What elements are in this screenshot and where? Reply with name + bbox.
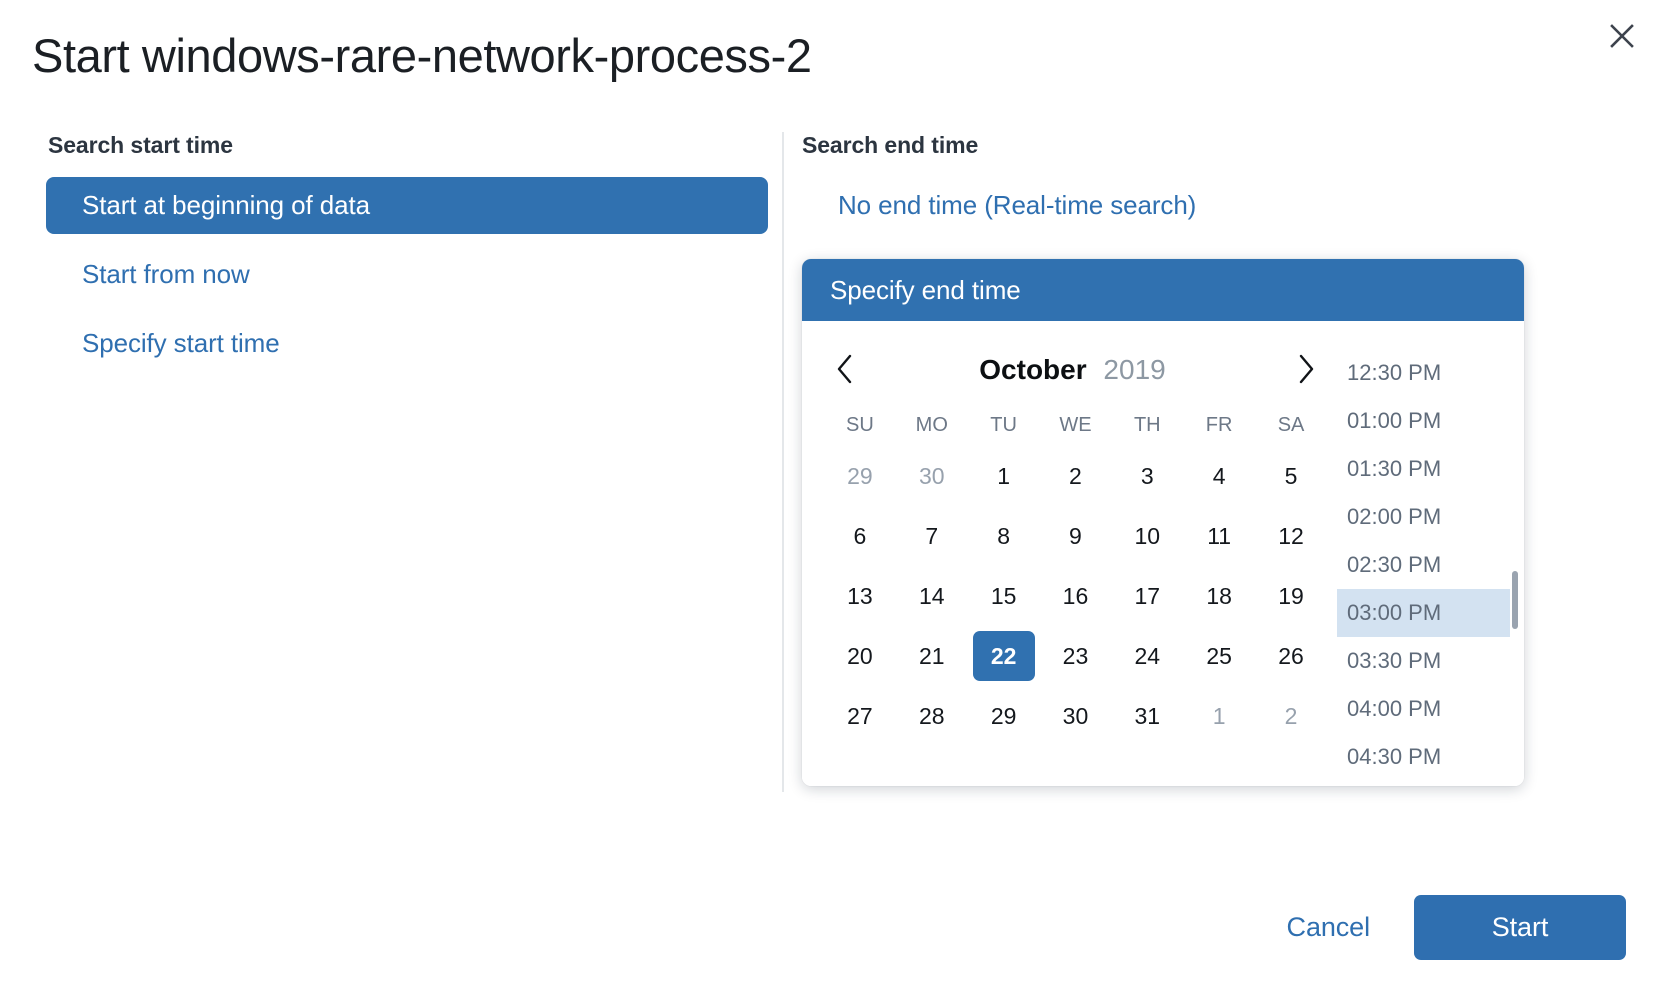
calendar-cell: 9 xyxy=(1040,506,1112,566)
calendar-weekday: SU xyxy=(824,401,896,446)
calendar-day[interactable]: 7 xyxy=(901,511,963,561)
calendar-day[interactable]: 18 xyxy=(1188,571,1250,621)
calendar-cell: 8 xyxy=(968,506,1040,566)
calendar-grid: SU MO TU WE TH FR SA 2930123456789101112… xyxy=(824,401,1327,746)
calendar-cell: 1 xyxy=(968,446,1040,506)
calendar-weekday: TU xyxy=(968,401,1040,446)
calendar-day[interactable]: 2 xyxy=(1260,691,1322,741)
calendar-cell: 16 xyxy=(1040,566,1112,626)
time-option-selected[interactable]: 03:00 PM xyxy=(1337,589,1510,637)
start-option-from-now[interactable]: Start from now xyxy=(46,246,768,303)
chevron-left-icon xyxy=(834,353,856,388)
calendar-cell: 19 xyxy=(1255,566,1327,626)
calendar-weeks: 2930123456789101112131415161718192021222… xyxy=(824,446,1327,746)
calendar-cell: 7 xyxy=(896,506,968,566)
calendar-cell: 21 xyxy=(896,626,968,686)
start-option-specify-start-time[interactable]: Specify start time xyxy=(46,315,768,372)
calendar-day[interactable]: 30 xyxy=(1044,691,1106,741)
calendar-week-row: 6789101112 xyxy=(824,506,1327,566)
time-option[interactable]: 03:30 PM xyxy=(1337,637,1510,685)
end-time-column: Search end time No end time (Real-time s… xyxy=(782,132,1666,792)
calendar-day[interactable]: 10 xyxy=(1116,511,1178,561)
dialog-footer: Cancel Start xyxy=(0,895,1666,960)
calendar-day[interactable]: 24 xyxy=(1116,631,1178,681)
calendar-day[interactable]: 1 xyxy=(1188,691,1250,741)
calendar-cell: 2 xyxy=(1040,446,1112,506)
time-option[interactable]: 04:00 PM xyxy=(1337,685,1510,733)
calendar-day[interactable]: 12 xyxy=(1260,511,1322,561)
calendar-cell: 5 xyxy=(1255,446,1327,506)
time-list[interactable]: 12:30 PM01:00 PM01:30 PM02:00 PM02:30 PM… xyxy=(1337,321,1524,786)
calendar-cell: 1 xyxy=(1183,686,1255,746)
end-time-heading: Search end time xyxy=(802,132,1666,159)
calendar-day[interactable]: 29 xyxy=(829,451,891,501)
calendar-cell: 15 xyxy=(968,566,1040,626)
calendar-day[interactable]: 4 xyxy=(1188,451,1250,501)
calendar-cell: 29 xyxy=(968,686,1040,746)
end-time-picker-popover: Specify end time xyxy=(802,259,1524,786)
calendar-day[interactable]: 31 xyxy=(1116,691,1178,741)
start-option-beginning-of-data[interactable]: Start at beginning of data xyxy=(46,177,768,234)
calendar-header: October 2019 xyxy=(824,339,1327,401)
calendar-cell: 13 xyxy=(824,566,896,626)
calendar-day[interactable]: 19 xyxy=(1260,571,1322,621)
time-list-scrollbar[interactable] xyxy=(1512,571,1518,629)
calendar-cell: 14 xyxy=(896,566,968,626)
close-icon xyxy=(1608,22,1636,50)
start-option-beginning-of-data-label: Start at beginning of data xyxy=(82,190,370,220)
time-option[interactable]: 02:00 PM xyxy=(1337,493,1510,541)
calendar-cell: 29 xyxy=(824,446,896,506)
calendar-day[interactable]: 17 xyxy=(1116,571,1178,621)
calendar-cell: 27 xyxy=(824,686,896,746)
start-time-column: Search start time Start at beginning of … xyxy=(0,132,782,792)
calendar-day[interactable]: 6 xyxy=(829,511,891,561)
calendar-day[interactable]: 28 xyxy=(901,691,963,741)
calendar-day[interactable]: 30 xyxy=(901,451,963,501)
calendar-day[interactable]: 11 xyxy=(1188,511,1250,561)
end-option-no-end-time-label: No end time (Real-time search) xyxy=(838,190,1196,220)
calendar-cell: 12 xyxy=(1255,506,1327,566)
picker-body: October 2019 xyxy=(802,321,1524,786)
calendar-day[interactable]: 9 xyxy=(1044,511,1106,561)
time-option[interactable]: 12:30 PM xyxy=(1337,349,1510,397)
calendar-week-row: 293012345 xyxy=(824,446,1327,506)
end-option-specify-end-time-label: Specify end time xyxy=(830,275,1021,305)
calendar-day[interactable]: 21 xyxy=(901,631,963,681)
calendar-cell: 6 xyxy=(824,506,896,566)
calendar-cell: 18 xyxy=(1183,566,1255,626)
time-range-selector: Search start time Start at beginning of … xyxy=(0,132,1666,792)
calendar-day[interactable]: 8 xyxy=(973,511,1035,561)
calendar-day[interactable]: 16 xyxy=(1044,571,1106,621)
calendar-weekday: TH xyxy=(1111,401,1183,446)
calendar-week-row: 20212223242526 xyxy=(824,626,1327,686)
end-option-specify-end-time[interactable]: Specify end time xyxy=(802,259,1524,321)
time-option[interactable]: 01:00 PM xyxy=(1337,397,1510,445)
start-option-specify-start-time-label: Specify start time xyxy=(82,328,280,358)
calendar-week-row: 272829303112 xyxy=(824,686,1327,746)
time-option[interactable]: 02:30 PM xyxy=(1337,541,1510,589)
calendar-day[interactable]: 13 xyxy=(829,571,891,621)
calendar-day[interactable]: 29 xyxy=(973,691,1035,741)
end-option-no-end-time[interactable]: No end time (Real-time search) xyxy=(802,177,1524,234)
calendar-day[interactable]: 2 xyxy=(1044,451,1106,501)
calendar-cell: 3 xyxy=(1111,446,1183,506)
calendar-weekday: MO xyxy=(896,401,968,446)
calendar-day[interactable]: 20 xyxy=(829,631,891,681)
calendar-next-month-button[interactable] xyxy=(1285,349,1327,391)
calendar: October 2019 xyxy=(802,321,1337,786)
time-option[interactable]: 04:30 PM xyxy=(1337,733,1510,781)
close-button[interactable] xyxy=(1600,14,1644,58)
calendar-day[interactable]: 14 xyxy=(901,571,963,621)
calendar-year-label: 2019 xyxy=(1103,354,1165,385)
calendar-day[interactable]: 25 xyxy=(1188,631,1250,681)
calendar-day[interactable]: 5 xyxy=(1260,451,1322,501)
calendar-month-label: October xyxy=(979,354,1086,385)
calendar-cell: 10 xyxy=(1111,506,1183,566)
time-items: 12:30 PM01:00 PM01:30 PM02:00 PM02:30 PM… xyxy=(1337,349,1524,786)
calendar-cell: 28 xyxy=(896,686,968,746)
calendar-day[interactable]: 26 xyxy=(1260,631,1322,681)
calendar-cell: 11 xyxy=(1183,506,1255,566)
calendar-cell: 30 xyxy=(896,446,968,506)
calendar-day[interactable]: 1 xyxy=(973,451,1035,501)
calendar-day[interactable]: 27 xyxy=(829,691,891,741)
start-button[interactable]: Start xyxy=(1414,895,1626,960)
calendar-weekday: FR xyxy=(1183,401,1255,446)
calendar-cell: 26 xyxy=(1255,626,1327,686)
calendar-cell: 23 xyxy=(1040,626,1112,686)
calendar-day[interactable]: 23 xyxy=(1044,631,1106,681)
calendar-cell: 22 xyxy=(968,626,1040,686)
page-title: Start windows-rare-network-process-2 xyxy=(32,28,812,83)
calendar-cell: 24 xyxy=(1111,626,1183,686)
cancel-button[interactable]: Cancel xyxy=(1265,900,1392,955)
calendar-title: October 2019 xyxy=(860,354,1285,386)
calendar-cell: 30 xyxy=(1040,686,1112,746)
calendar-cell: 31 xyxy=(1111,686,1183,746)
calendar-day[interactable]: 15 xyxy=(973,571,1035,621)
start-option-from-now-label: Start from now xyxy=(82,259,250,289)
calendar-weekday-row: SU MO TU WE TH FR SA xyxy=(824,401,1327,446)
calendar-cell: 20 xyxy=(824,626,896,686)
calendar-cell: 2 xyxy=(1255,686,1327,746)
calendar-day[interactable]: 3 xyxy=(1116,451,1178,501)
calendar-cell: 4 xyxy=(1183,446,1255,506)
time-option[interactable]: 01:30 PM xyxy=(1337,445,1510,493)
chevron-right-icon xyxy=(1295,353,1317,388)
calendar-day-selected[interactable]: 22 xyxy=(973,631,1035,681)
time-option[interactable]: 05:00 PM xyxy=(1337,783,1510,786)
calendar-week-row: 13141516171819 xyxy=(824,566,1327,626)
calendar-cell: 17 xyxy=(1111,566,1183,626)
calendar-weekday: WE xyxy=(1040,401,1112,446)
calendar-cell: 25 xyxy=(1183,626,1255,686)
start-time-heading: Search start time xyxy=(48,132,782,159)
calendar-weekday: SA xyxy=(1255,401,1327,446)
